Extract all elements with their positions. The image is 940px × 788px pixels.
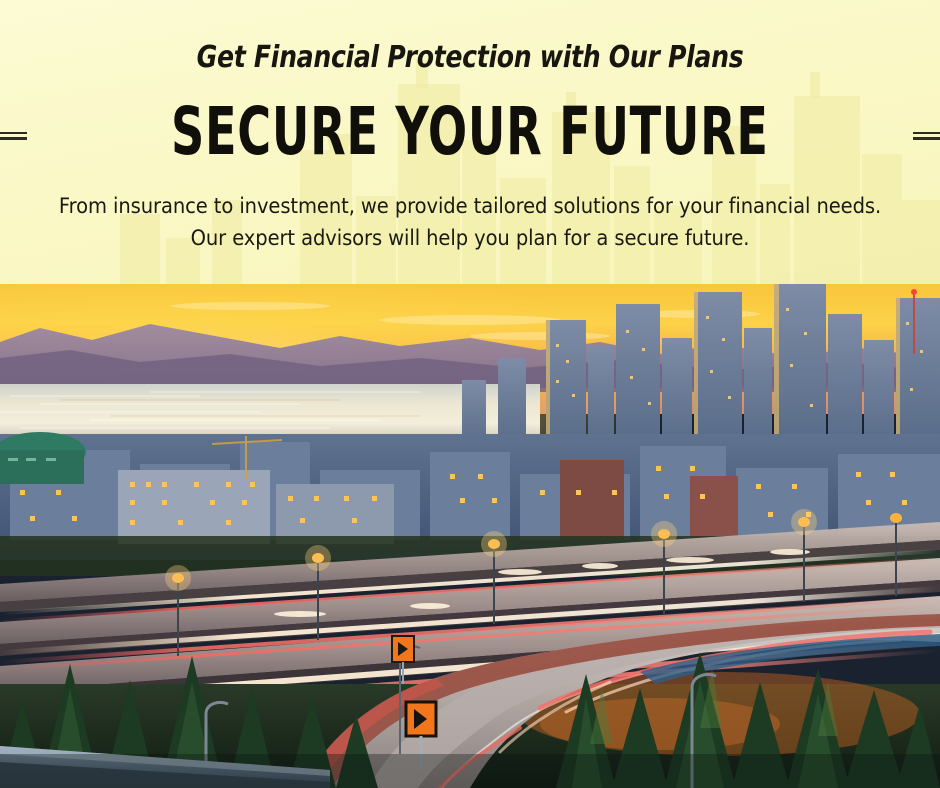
headline-row: SECURE YOUR FUTURE [0,96,940,168]
banner-tagline: Get Financial Protection with Our Plans [75,40,865,75]
hero-banner: Get Financial Protection with Our Plans … [0,0,940,788]
cityscape-illustration [0,284,940,788]
banner-headline: SECURE YOUR FUTURE [171,101,769,163]
divider-rule-left [0,132,27,141]
chevron-sign-upper [392,636,414,684]
banner-subcopy: From insurance to investment, we provide… [52,190,889,254]
cityscape-photo [0,284,940,788]
divider-rule-right [913,132,940,141]
headline-band: Get Financial Protection with Our Plans … [0,0,940,284]
band-text-content: Get Financial Protection with Our Plans … [0,0,940,284]
